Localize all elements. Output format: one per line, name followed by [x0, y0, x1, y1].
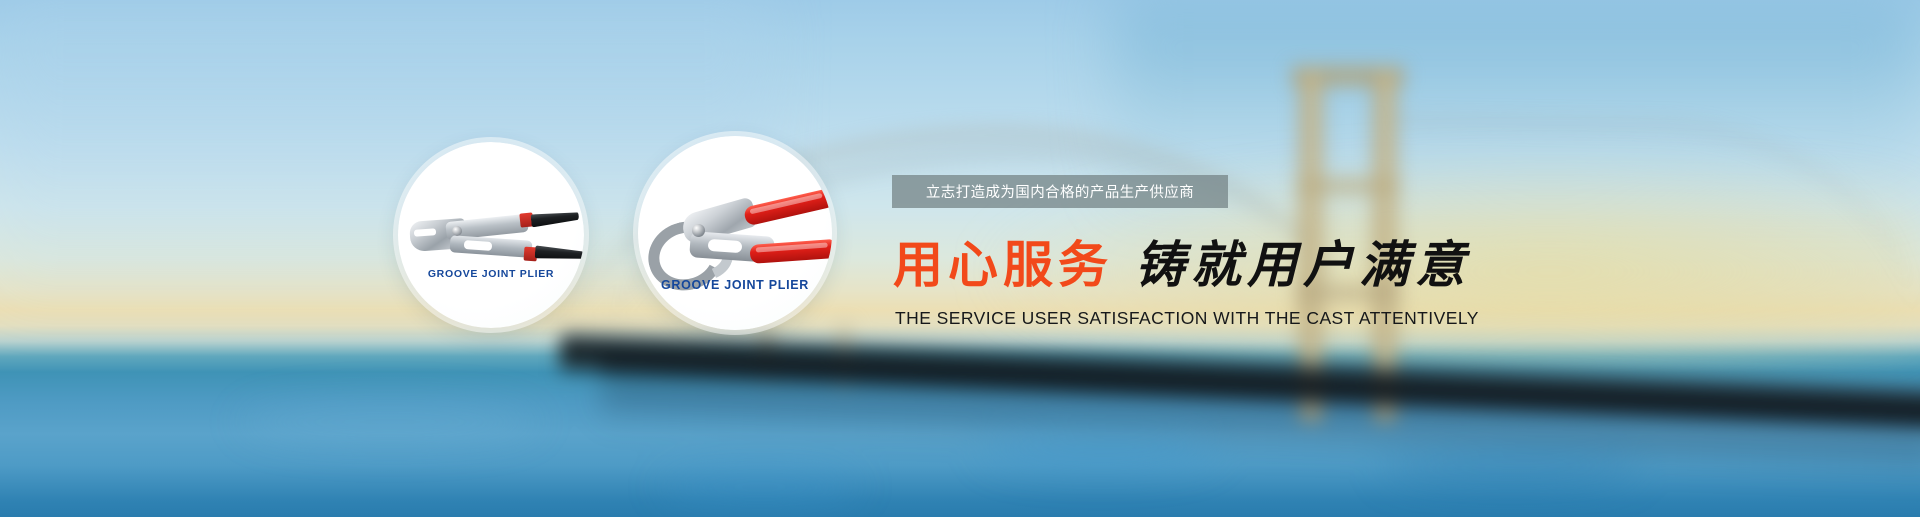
headline-secondary: 铸就用户满意 — [1135, 235, 1471, 294]
headline-primary: 用心服务 — [893, 235, 1113, 294]
plier-handle-grip — [743, 189, 831, 227]
headline: 用心服务铸就用户满意 — [893, 240, 1471, 290]
hero-banner: GROOVE JOINT PLIER GROOVE JOINT PLIER 立志… — [0, 0, 1920, 517]
product-circle-1[interactable]: GROOVE JOINT PLIER — [398, 142, 584, 328]
groove-joint-plier-black-icon — [406, 202, 578, 274]
product-circle-2[interactable]: GROOVE JOINT PLIER — [638, 136, 832, 330]
plier-pivot-bolt — [452, 226, 462, 236]
grip-highlight — [749, 193, 822, 215]
product-label: GROOVE JOINT PLIER — [638, 278, 832, 292]
plier-groove-slot — [708, 239, 743, 253]
bridge-tower-crossbeam-upper — [1296, 178, 1400, 194]
water-shimmer — [980, 430, 1220, 470]
tagline-bar: 立志打造成为国内合格的产品生产供应商 — [892, 175, 1228, 208]
tagline-text: 立志打造成为国内合格的产品生产供应商 — [926, 181, 1194, 202]
product-label: GROOVE JOINT PLIER — [398, 268, 584, 280]
plier-handle-grip — [530, 210, 579, 228]
water-shimmer — [1380, 452, 1640, 488]
plier-groove-slot — [464, 240, 493, 251]
subheadline: THE SERVICE USER SATISFACTION WITH THE C… — [895, 308, 1479, 329]
plier-pivot-bolt — [692, 224, 705, 237]
water-shimmer — [660, 470, 860, 504]
water-shimmer — [240, 400, 540, 444]
plier-handle-grip — [535, 245, 584, 261]
suspension-cable-right — [1394, 115, 1918, 334]
grip-highlight — [756, 243, 828, 253]
groove-joint-plier-red-icon — [644, 190, 830, 280]
